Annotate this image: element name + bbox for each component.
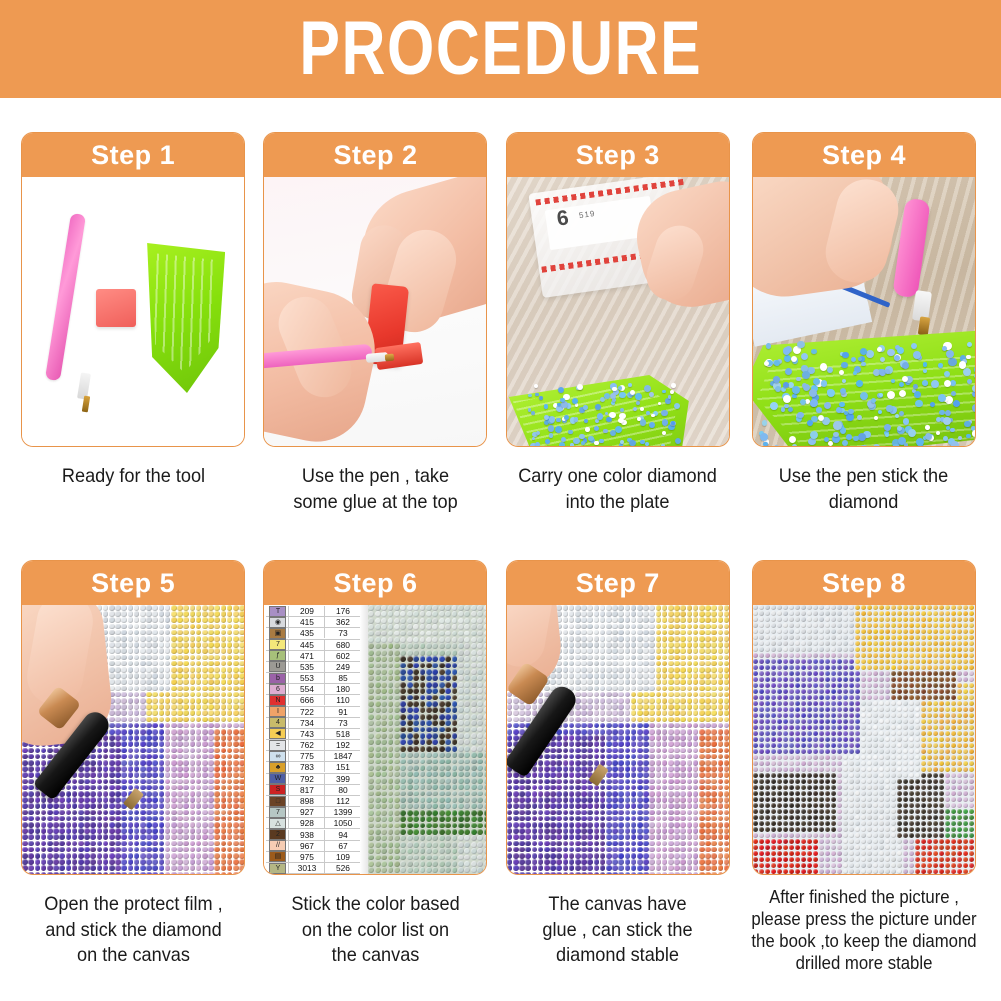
canvas-bead <box>452 771 458 777</box>
canvas-bead <box>202 754 208 760</box>
canvas-bead <box>631 810 637 816</box>
canvas-bead <box>115 853 121 859</box>
canvas-bead <box>643 754 649 760</box>
canvas-bead <box>484 720 487 726</box>
canvas-bead <box>202 760 208 766</box>
canvas-bead <box>581 748 587 754</box>
canvas-bead <box>28 872 34 874</box>
canvas-bead <box>656 723 662 729</box>
canvas-bead <box>680 847 686 853</box>
canvas-bead <box>196 766 202 772</box>
canvas-bead <box>458 688 464 694</box>
canvas-bead <box>680 834 686 840</box>
canvas-bead <box>394 650 400 656</box>
step-card-3[interactable]: Step 3 6 519 <box>506 132 730 447</box>
canvas-bead <box>115 754 121 760</box>
step-header-label-2: Step 2 <box>333 142 417 169</box>
canvas-bead <box>190 791 196 797</box>
canvas-bead <box>426 656 432 662</box>
canvas-bead <box>140 859 146 865</box>
canvas-bead <box>587 828 593 834</box>
canvas-bead <box>563 760 569 766</box>
step-caption-2: Use the pen , take some glue at the top <box>266 464 485 515</box>
canvas-bead <box>394 829 400 835</box>
canvas-bead <box>637 686 643 692</box>
canvas-bead <box>556 872 562 874</box>
caption-line: Carry one color diamond <box>509 464 728 490</box>
canvas-bead <box>146 816 152 822</box>
canvas-bead <box>477 631 483 637</box>
canvas-bead <box>606 723 612 729</box>
canvas-bead <box>575 853 581 859</box>
canvas-bead <box>550 834 556 840</box>
canvas-bead <box>115 779 121 785</box>
canvas-bead <box>97 797 103 803</box>
canvas-bead <box>643 872 649 874</box>
canvas-bead <box>711 661 717 667</box>
canvas-bead <box>484 624 487 630</box>
canvas-bead <box>471 803 477 809</box>
canvas-bead <box>600 686 606 692</box>
canvas-bead <box>625 822 631 828</box>
canvas-bead <box>513 822 519 828</box>
canvas-bead <box>668 754 674 760</box>
step-card-8[interactable]: Step 8 <box>752 560 976 875</box>
diamond-bead <box>674 403 680 409</box>
step-card-5[interactable]: Step 5 <box>21 560 245 875</box>
canvas-bead <box>233 748 239 754</box>
color-symbol-swatch: b <box>269 673 286 684</box>
diamond-bead <box>902 362 909 369</box>
canvas-bead <box>625 816 631 822</box>
color-count-cell: 73 <box>324 718 360 728</box>
canvas-bead <box>705 717 711 723</box>
canvas-bead <box>612 853 618 859</box>
canvas-bead <box>381 656 387 662</box>
canvas-bead <box>103 803 109 809</box>
canvas-bead <box>202 779 208 785</box>
canvas-bead <box>668 686 674 692</box>
canvas-bead <box>452 707 458 713</box>
canvas-bead <box>439 669 445 675</box>
canvas-bead <box>221 636 227 642</box>
canvas-bead <box>452 739 458 745</box>
canvas-bead <box>239 735 244 741</box>
canvas-bead <box>587 803 593 809</box>
canvas-bead <box>171 772 177 778</box>
canvas-bead <box>600 797 606 803</box>
canvas-bead <box>214 611 220 617</box>
canvas-bead <box>680 717 686 723</box>
canvas-bead <box>152 853 158 859</box>
canvas-bead <box>693 816 699 822</box>
canvas-bead <box>22 779 28 785</box>
canvas-bead <box>183 872 189 874</box>
canvas-bead <box>375 611 381 617</box>
color-symbol-swatch: □ <box>269 796 286 807</box>
canvas-bead <box>606 859 612 865</box>
canvas-bead <box>140 853 146 859</box>
canvas-bead <box>687 865 693 871</box>
canvas-bead <box>471 816 477 822</box>
canvas-bead <box>575 617 581 623</box>
canvas-bead <box>724 655 729 661</box>
canvas-bead <box>637 617 643 623</box>
canvas-bead <box>575 847 581 853</box>
canvas-bead <box>407 688 413 694</box>
canvas-bead <box>724 673 729 679</box>
canvas-bead <box>214 816 220 822</box>
canvas-bead <box>445 771 451 777</box>
canvas-bead <box>432 714 438 720</box>
canvas-bead <box>631 605 637 611</box>
canvas-bead <box>581 661 587 667</box>
canvas-bead <box>637 803 643 809</box>
step-cell-3: Step 3 6 519 <box>497 98 739 538</box>
canvas-bead <box>471 727 477 733</box>
canvas-bead <box>426 848 432 854</box>
canvas-bead <box>368 759 374 765</box>
canvas-bead <box>705 772 711 778</box>
canvas-bead <box>631 710 637 716</box>
canvas-bead <box>190 642 196 648</box>
canvas-bead <box>183 648 189 654</box>
canvas-bead <box>388 631 394 637</box>
step-card-6[interactable]: Step 6 T209176◉415362▣435737445680ƒ47160… <box>263 560 487 875</box>
canvas-bead <box>445 605 451 611</box>
canvas-bead <box>109 642 115 648</box>
canvas-bead <box>544 791 550 797</box>
canvas-bead <box>649 642 655 648</box>
canvas-bead <box>631 865 637 871</box>
canvas-bead <box>662 686 668 692</box>
canvas-bead <box>477 675 483 681</box>
canvas-bead <box>439 746 445 752</box>
canvas-bead <box>214 648 220 654</box>
canvas-bead <box>140 636 146 642</box>
canvas-bead <box>525 803 531 809</box>
canvas-bead <box>550 766 556 772</box>
canvas-bead <box>587 667 593 673</box>
canvas-bead <box>171 791 177 797</box>
canvas-bead <box>432 791 438 797</box>
color-code-cell: 471 <box>288 651 324 661</box>
canvas-bead <box>471 759 477 765</box>
canvas-bead <box>594 661 600 667</box>
canvas-bead <box>724 741 729 747</box>
color-symbol-swatch: 4 <box>269 717 286 728</box>
canvas-bead <box>233 655 239 661</box>
canvas-bead <box>375 784 381 790</box>
canvas-bead <box>208 704 214 710</box>
canvas-bead <box>400 797 406 803</box>
canvas-bead <box>146 841 152 847</box>
canvas-bead <box>121 729 127 735</box>
canvas-bead <box>134 611 140 617</box>
canvas-bead <box>600 673 606 679</box>
canvas-bead <box>239 679 244 685</box>
canvas-bead <box>464 816 470 822</box>
canvas-bead <box>140 760 146 766</box>
canvas-bead <box>649 704 655 710</box>
canvas-bead <box>72 847 78 853</box>
color-list-row: ◀743518 <box>266 729 360 740</box>
canvas-bead <box>115 679 121 685</box>
canvas-bead <box>656 692 662 698</box>
canvas-bead <box>656 735 662 741</box>
canvas-bead <box>544 766 550 772</box>
canvas-bead <box>115 717 121 723</box>
canvas-bead <box>631 785 637 791</box>
canvas-bead <box>600 617 606 623</box>
diamond-bead <box>635 393 642 400</box>
canvas-bead <box>388 707 394 713</box>
canvas-bead <box>668 679 674 685</box>
canvas-bead <box>606 822 612 828</box>
canvas-bead <box>477 765 483 771</box>
canvas-bead <box>400 663 406 669</box>
canvas-bead <box>693 729 699 735</box>
canvas-bead <box>375 778 381 784</box>
canvas-bead <box>569 810 575 816</box>
canvas-bead <box>202 748 208 754</box>
canvas-bead <box>146 692 152 698</box>
canvas-bead <box>121 611 127 617</box>
canvas-bead <box>159 859 165 865</box>
canvas-bead <box>208 648 214 654</box>
scene-finished-picture <box>753 605 975 874</box>
canvas-bead <box>680 779 686 785</box>
canvas-bead <box>705 735 711 741</box>
canvas-bead <box>400 695 406 701</box>
canvas-bead <box>711 754 717 760</box>
canvas-bead <box>575 667 581 673</box>
canvas-bead <box>662 834 668 840</box>
canvas-bead <box>196 779 202 785</box>
canvas-bead <box>368 816 374 822</box>
canvas-bead <box>413 643 419 649</box>
canvas-bead <box>693 748 699 754</box>
canvas-bead <box>662 648 668 654</box>
canvas-bead <box>668 760 674 766</box>
canvas-bead <box>711 847 717 853</box>
canvas-bead <box>171 816 177 822</box>
canvas-bead <box>165 841 171 847</box>
canvas-bead <box>637 624 643 630</box>
canvas-bead <box>90 785 96 791</box>
canvas-bead <box>420 637 426 643</box>
canvas-bead <box>128 655 134 661</box>
canvas-bead <box>239 729 244 735</box>
canvas-bead <box>464 618 470 624</box>
canvas-bead <box>196 704 202 710</box>
canvas-bead <box>134 692 140 698</box>
diamond-bead <box>792 394 797 399</box>
canvas-bead <box>109 636 115 642</box>
canvas-bead <box>464 778 470 784</box>
canvas-bead <box>556 816 562 822</box>
canvas-bead <box>121 617 127 623</box>
canvas-bead <box>674 853 680 859</box>
canvas-bead <box>432 624 438 630</box>
canvas-bead <box>656 741 662 747</box>
canvas-bead <box>121 754 127 760</box>
canvas-bead <box>464 771 470 777</box>
canvas-bead <box>190 766 196 772</box>
color-count-cell: 85 <box>324 673 360 683</box>
canvas-bead <box>221 735 227 741</box>
canvas-bead <box>146 723 152 729</box>
step-card-1[interactable]: Step 1 <box>21 132 245 447</box>
canvas-bead <box>152 630 158 636</box>
step-card-7[interactable]: Step 7 <box>506 560 730 875</box>
canvas-bead <box>471 842 477 848</box>
canvas-bead <box>464 637 470 643</box>
canvas-bead <box>687 735 693 741</box>
canvas-bead <box>550 673 556 679</box>
canvas-bead <box>208 686 214 692</box>
canvas-bead <box>464 752 470 758</box>
canvas-bead <box>458 797 464 803</box>
canvas-bead <box>59 859 65 865</box>
canvas-bead <box>581 642 587 648</box>
color-symbol-swatch: ◉ <box>269 617 286 628</box>
canvas-bead <box>368 829 374 835</box>
canvas-bead <box>221 828 227 834</box>
canvas-bead <box>612 760 618 766</box>
canvas-bead <box>183 760 189 766</box>
canvas-bead <box>183 803 189 809</box>
canvas-bead <box>458 624 464 630</box>
canvas-bead <box>563 617 569 623</box>
canvas-bead <box>239 624 244 630</box>
canvas-bead <box>711 748 717 754</box>
canvas-bead <box>394 727 400 733</box>
canvas-bead <box>66 797 72 803</box>
canvas-bead <box>693 679 699 685</box>
canvas-bead <box>705 692 711 698</box>
canvas-bead <box>711 779 717 785</box>
diamond-bead <box>792 444 797 446</box>
canvas-bead <box>625 810 631 816</box>
canvas-bead <box>233 872 239 874</box>
canvas-bead <box>381 791 387 797</box>
canvas-bead <box>477 778 483 784</box>
canvas-bead <box>569 760 575 766</box>
canvas-bead <box>103 617 109 623</box>
canvas-bead <box>233 853 239 859</box>
canvas-bead <box>649 698 655 704</box>
canvas-bead <box>227 803 233 809</box>
canvas-bead <box>705 816 711 822</box>
canvas-bead <box>22 785 28 791</box>
canvas-bead <box>152 667 158 673</box>
canvas-bead <box>407 663 413 669</box>
canvas-bead <box>445 720 451 726</box>
canvas-bead <box>594 828 600 834</box>
canvas-bead <box>159 779 165 785</box>
canvas-bead <box>388 663 394 669</box>
canvas-bead <box>426 624 432 630</box>
canvas-bead <box>705 791 711 797</box>
canvas-bead <box>121 673 127 679</box>
canvas-bead <box>233 766 239 772</box>
canvas-bead <box>600 655 606 661</box>
caption-line: on the color list on <box>266 918 485 944</box>
canvas-bead <box>525 847 531 853</box>
canvas-bead <box>724 803 729 809</box>
step-card-2[interactable]: Step 2 <box>263 132 487 447</box>
canvas-bead <box>221 717 227 723</box>
canvas-bead <box>606 605 612 611</box>
canvas-bead <box>612 630 618 636</box>
canvas-bead <box>439 816 445 822</box>
canvas-bead <box>22 847 28 853</box>
canvas-bead <box>649 859 655 865</box>
canvas-bead <box>581 741 587 747</box>
canvas-bead <box>718 710 724 716</box>
canvas-bead <box>214 605 220 611</box>
canvas-bead <box>146 803 152 809</box>
canvas-bead <box>625 723 631 729</box>
canvas-bead <box>214 636 220 642</box>
canvas-bead <box>699 698 705 704</box>
canvas-bead <box>587 648 593 654</box>
canvas-bead <box>625 741 631 747</box>
canvas-bead <box>612 803 618 809</box>
canvas-bead <box>643 791 649 797</box>
canvas-bead <box>103 611 109 617</box>
canvas-bead <box>388 688 394 694</box>
canvas-bead <box>519 803 525 809</box>
canvas-bead <box>693 872 699 874</box>
canvas-bead <box>525 828 531 834</box>
canvas-bead <box>687 822 693 828</box>
scene-glue-dip <box>264 177 486 446</box>
canvas-bead <box>445 861 451 867</box>
canvas-bead <box>718 785 724 791</box>
canvas-bead <box>581 865 587 871</box>
canvas-bead <box>612 648 618 654</box>
canvas-bead <box>432 816 438 822</box>
canvas-bead <box>550 779 556 785</box>
color-list-row: b55385 <box>266 673 360 684</box>
canvas-bead <box>556 741 562 747</box>
canvas-bead <box>400 624 406 630</box>
canvas-bead <box>140 642 146 648</box>
canvas-bead <box>718 760 724 766</box>
step-card-4[interactable]: Step 4 <box>752 132 976 447</box>
steps-grid: Step 1 Ready for the tool <box>0 98 1001 1001</box>
canvas-bead <box>637 605 643 611</box>
canvas-bead <box>115 847 121 853</box>
canvas-bead <box>152 741 158 747</box>
canvas-bead <box>165 872 171 874</box>
canvas-bead <box>183 779 189 785</box>
canvas-bead <box>662 754 668 760</box>
canvas-bead <box>41 847 47 853</box>
canvas-bead <box>724 828 729 834</box>
canvas-bead <box>368 618 374 624</box>
canvas-bead <box>413 855 419 861</box>
color-count-cell: 80 <box>324 785 360 795</box>
canvas-bead <box>674 735 680 741</box>
canvas-bead <box>711 723 717 729</box>
canvas-bead <box>375 848 381 854</box>
canvas-bead <box>680 828 686 834</box>
canvas-bead <box>618 810 624 816</box>
canvas-bead <box>53 853 59 859</box>
